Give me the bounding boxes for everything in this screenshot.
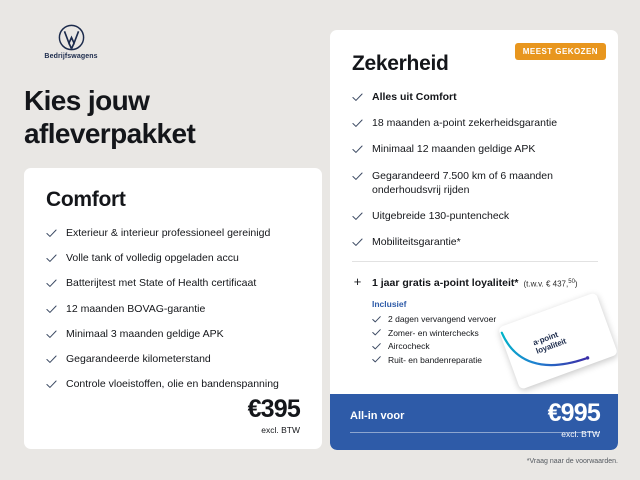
zekerheid-price-footer: All-in voor €995 excl. BTW <box>330 394 618 450</box>
list-item-label: Volle tank of volledig opgeladen accu <box>66 251 300 265</box>
check-icon <box>352 171 363 182</box>
footnote: *Vraag naar de voorwaarden. <box>527 458 618 465</box>
loyalty-value: (t.w.v. € 437,50) <box>523 279 577 289</box>
loyalty-value-prefix: (t.w.v. € 437, <box>523 279 568 288</box>
list-item-label: 12 maanden BOVAG-garantie <box>66 302 300 316</box>
list-item-label: Exterieur & interieur professioneel gere… <box>66 226 300 240</box>
list-item-label: Batterijtest met State of Health certifi… <box>66 276 300 290</box>
zekerheid-price-block: €995 excl. BTW <box>548 401 600 439</box>
list-item: Mobiliteitsgarantie* <box>352 235 598 249</box>
zekerheid-feature-list: Alles uit Comfort 18 maanden a-point zek… <box>352 90 598 249</box>
check-icon <box>372 342 381 351</box>
check-icon <box>46 354 57 365</box>
included-label: Inclusief <box>372 299 598 309</box>
brand-block: Bedrijfswagens <box>36 24 106 60</box>
list-item-label: Alles uit Comfort <box>372 90 598 104</box>
list-item-label: Mobiliteitsgarantie* <box>372 235 598 249</box>
left-column: Bedrijfswagens Kies jouw afleverpakket C… <box>0 0 322 480</box>
check-icon <box>46 253 57 264</box>
loyalty-value-suffix: ) <box>575 279 578 288</box>
check-icon <box>46 329 57 340</box>
check-icon <box>46 304 57 315</box>
list-item: Minimaal 12 maanden geldige APK <box>352 142 598 156</box>
list-item: Gegarandeerd 7.500 km of 6 maanden onder… <box>352 169 598 197</box>
loyalty-title: 1 jaar gratis a-point loyaliteit* <box>372 277 518 289</box>
list-item: 12 maanden BOVAG-garantie <box>46 302 300 316</box>
list-item: 18 maanden a-point zekerheidsgarantie <box>352 116 598 130</box>
check-icon <box>372 355 381 364</box>
check-icon <box>372 328 381 337</box>
zekerheid-package-card[interactable]: MEEST GEKOZEN Zekerheid Alles uit Comfor… <box>330 30 618 450</box>
list-item: Uitgebreide 130-puntencheck <box>352 209 598 223</box>
list-item: Controle vloeistoffen, olie en bandenspa… <box>46 377 300 391</box>
loyalty-header: + 1 jaar gratis a-point loyaliteit* (t.w… <box>352 275 598 289</box>
list-item-label: Minimaal 3 maanden geldige APK <box>66 327 300 341</box>
loyalty-value-cents: 50 <box>568 279 575 285</box>
list-item-label: Aircocheck <box>388 341 430 351</box>
allin-label: All-in voor <box>350 410 404 422</box>
page-title: Kies jouw afleverpakket <box>24 84 304 150</box>
list-item: Batterijtest met State of Health certifi… <box>46 276 300 290</box>
comfort-feature-list: Exterieur & interieur professioneel gere… <box>46 226 300 391</box>
list-item: Exterieur & interieur professioneel gere… <box>46 226 300 240</box>
comfort-package-card[interactable]: Comfort Exterieur & interieur profession… <box>24 168 322 449</box>
comfort-price: €395 <box>248 397 300 422</box>
list-item: Minimaal 3 maanden geldige APK <box>46 327 300 341</box>
check-icon <box>46 278 57 289</box>
list-item-label: Uitgebreide 130-puntencheck <box>372 209 598 223</box>
zekerheid-price: €995 <box>548 401 600 426</box>
check-icon <box>372 315 381 324</box>
list-item: Alles uit Comfort <box>352 90 598 104</box>
check-icon <box>352 92 363 103</box>
list-item-label: Ruit- en bandenreparatie <box>388 355 482 365</box>
list-item-label: Gegarandeerd 7.500 km of 6 maanden onder… <box>372 169 598 197</box>
zekerheid-price-note: excl. BTW <box>548 429 600 439</box>
list-item-label: 18 maanden a-point zekerheidsgarantie <box>372 116 598 130</box>
plus-icon: + <box>352 275 363 288</box>
list-item-label: Gegarandeerde kilometerstand <box>66 352 300 366</box>
vw-roundel-icon <box>36 24 106 51</box>
check-icon <box>352 118 363 129</box>
list-item-label: Controle vloeistoffen, olie en bandenspa… <box>66 377 300 391</box>
list-item-label: Minimaal 12 maanden geldige APK <box>372 142 598 156</box>
status-badge: MEEST GEKOZEN <box>515 43 606 60</box>
list-item: Aircocheck <box>372 341 598 351</box>
included-block: Inclusief 2 dagen vervangend vervoer Zom… <box>352 299 598 365</box>
comfort-price-block: €395 excl. BTW <box>248 397 300 435</box>
list-item: Ruit- en bandenreparatie <box>372 355 598 365</box>
check-icon <box>46 379 57 390</box>
list-item: Gegarandeerde kilometerstand <box>46 352 300 366</box>
section-divider <box>352 261 598 262</box>
comfort-title: Comfort <box>46 188 300 212</box>
check-icon <box>46 228 57 239</box>
check-icon <box>352 144 363 155</box>
list-item-label: 2 dagen vervangend vervoer <box>388 314 496 324</box>
comfort-price-note: excl. BTW <box>248 425 300 435</box>
check-icon <box>352 237 363 248</box>
check-icon <box>352 211 363 222</box>
list-item: Zomer- en winterchecks <box>372 328 598 338</box>
included-list: 2 dagen vervangend vervoer Zomer- en win… <box>372 314 598 365</box>
list-item-label: Zomer- en winterchecks <box>388 328 479 338</box>
list-item: Volle tank of volledig opgeladen accu <box>46 251 300 265</box>
list-item: 2 dagen vervangend vervoer <box>372 314 598 324</box>
brand-subtitle: Bedrijfswagens <box>36 53 106 60</box>
